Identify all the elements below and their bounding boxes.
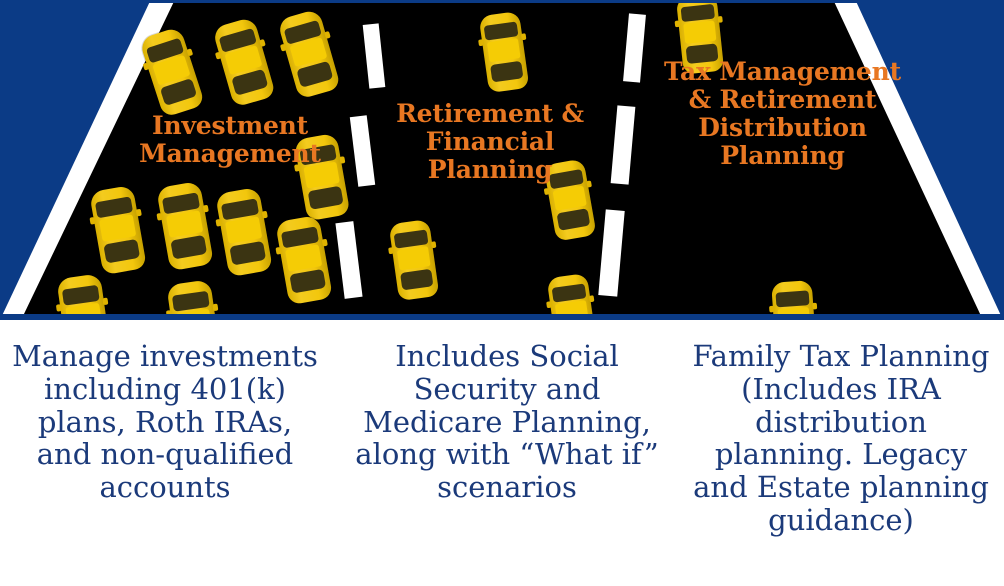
car-mirror-left: [546, 301, 551, 308]
panel-bottom-edge: [0, 314, 1004, 320]
car-mirror-left: [56, 304, 62, 312]
road-illustration: Investment Management Retirement & Finan…: [0, 0, 1004, 320]
car-mirror-left: [156, 213, 162, 221]
car-windshield: [775, 290, 809, 307]
car-mirror-left: [769, 306, 774, 313]
car-mirror-left: [544, 188, 550, 195]
caption-tax: Family Tax Planning (Includes IRA distri…: [678, 326, 1004, 537]
slide-root: Investment Management Retirement & Finan…: [0, 0, 1004, 586]
car-mirror-right: [521, 33, 526, 40]
car-mirror-right: [589, 295, 594, 302]
caption-retirement: Includes Social Security and Medicare Pl…: [336, 326, 678, 504]
caption-row: Manage investments including 401(k) plan…: [0, 326, 1004, 586]
car-mirror-left: [675, 21, 680, 28]
car-mirror-right: [812, 303, 817, 310]
lane-heading-tax: Tax Management & Retirement Distribution…: [660, 58, 905, 170]
car-mirror-left: [388, 247, 393, 254]
lane-heading-retirement: Retirement & Financial Planning: [385, 100, 595, 184]
car-mirror-right: [718, 16, 723, 23]
car-mirror-right: [339, 156, 345, 164]
car-roof: [683, 20, 716, 44]
car-mirror-right: [431, 241, 436, 248]
car-mirror-right: [262, 211, 268, 219]
car-mirror-left: [478, 39, 483, 46]
car-mirror-right: [322, 239, 328, 247]
panel-top-edge: [0, 0, 1004, 3]
car-mirror-right: [212, 304, 218, 312]
car-mirror-right: [136, 209, 142, 217]
lane-heading-investment: Investment Management: [120, 112, 340, 168]
car-mirror-left: [89, 217, 95, 225]
car-mirror-right: [102, 298, 108, 306]
car-mirror-left: [215, 219, 221, 227]
car-mirror-left: [275, 247, 281, 255]
caption-investment: Manage investments including 401(k) plan…: [0, 326, 336, 504]
car-mirror-right: [203, 205, 209, 213]
